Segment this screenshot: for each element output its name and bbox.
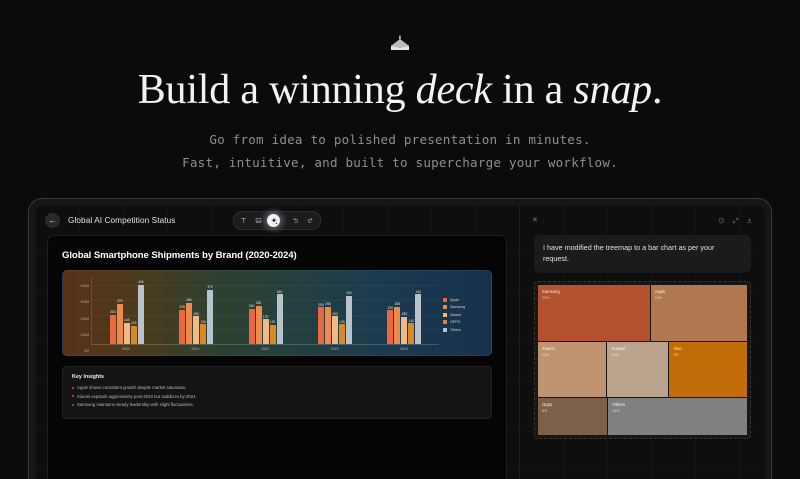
x-tick-label: 2022 <box>230 347 300 351</box>
treemap-tile-name: Apple <box>655 289 743 294</box>
key-insights-title: Key Insights <box>72 374 482 380</box>
legend-label: Samsung <box>450 305 465 309</box>
bar-group: 200275145125405 <box>92 278 161 344</box>
bullet-icon <box>72 404 74 406</box>
bar <box>186 303 192 344</box>
slide-canvas[interactable]: Global Smartphone Shipments by Brand (20… <box>47 235 507 479</box>
treemap-tile-name: Vivo <box>673 346 743 351</box>
chart-legend: AppleSamsungXiaomiOPPOOthers <box>439 278 483 351</box>
bar-item[interactable]: 330 <box>346 278 352 344</box>
back-arrow-icon[interactable]: ← <box>45 213 60 228</box>
bar-value-label: 280 <box>186 298 192 302</box>
treemap-row: Xiaomi13%Huawei11%Vivo9% <box>538 342 747 397</box>
bar-item[interactable]: 135 <box>200 278 206 344</box>
bar <box>193 316 199 344</box>
key-insights-card: Key Insights Apple shows consistent grow… <box>62 366 492 419</box>
legend-label: Xiaomi <box>450 313 461 317</box>
bar-value-label: 250 <box>318 303 324 307</box>
chart-y-axis: 400M300M200M100M0M <box>71 278 91 351</box>
bar-item[interactable]: 280 <box>186 278 192 344</box>
bar <box>138 285 144 344</box>
treemap-tile[interactable]: Oppo8% <box>538 398 607 435</box>
page-title: Build a winning deck in a snap. <box>0 68 800 112</box>
headline-text-3: . <box>652 67 662 113</box>
hero-section: Build a winning deck in a snap. Go from … <box>0 0 800 175</box>
magic-wand-icon[interactable] <box>267 214 280 227</box>
bar-groups: 2002751451254052352801901353702402601701… <box>92 278 439 344</box>
bar-value-label: 405 <box>138 280 144 284</box>
legend-item[interactable]: Others <box>443 328 483 332</box>
y-tick-label: 200M <box>81 317 89 321</box>
key-insight-text: Apple shows consistent growth despite ma… <box>77 385 187 390</box>
redo-icon[interactable] <box>304 214 317 227</box>
cake-slice-icon <box>387 34 413 54</box>
bar <box>179 310 185 344</box>
treemap-tile[interactable]: Huawei11% <box>607 342 668 397</box>
bar-item[interactable]: 190 <box>193 278 199 344</box>
treemap-tile[interactable]: Apple19% <box>651 285 747 341</box>
legend-item[interactable]: Apple <box>443 298 483 302</box>
headline-text-1: Build a winning <box>138 67 416 113</box>
expand-icon[interactable] <box>732 217 739 224</box>
download-icon[interactable] <box>746 217 753 224</box>
headline-text-2: in a <box>492 67 574 113</box>
chart-plot-area: 400M300M200M100M0M 200275145125405235280… <box>71 278 439 351</box>
bar-value-label: 255 <box>395 302 401 306</box>
undo-icon[interactable] <box>289 214 302 227</box>
bar <box>332 316 338 344</box>
bar-item[interactable]: 255 <box>394 278 400 344</box>
bar-value-label: 255 <box>325 302 331 306</box>
bar-item[interactable]: 145 <box>124 278 130 344</box>
bar-value-label: 260 <box>256 301 262 305</box>
bar <box>270 325 276 344</box>
chat-header: ✕ <box>520 205 765 235</box>
bar <box>263 319 269 344</box>
chat-message: I have modified the treemap to a bar cha… <box>534 235 751 273</box>
slide-title: Global Smartphone Shipments by Brand (20… <box>62 250 492 261</box>
bar-item[interactable]: 200 <box>110 278 116 344</box>
bar-item[interactable]: 135 <box>339 278 345 344</box>
treemap-tile-value: 8% <box>542 409 603 413</box>
bar-item[interactable]: 235 <box>179 278 185 344</box>
chart-x-axis: 20202021202220232024 <box>91 347 439 351</box>
x-tick-label: 2023 <box>300 347 370 351</box>
bar-value-label: 140 <box>409 319 415 323</box>
treemap-chart: Samsung22%Apple19%Xiaomi13%Huawei11%Vivo… <box>538 285 747 435</box>
key-insight-item: Xiaomi expands aggressively post-2020 bu… <box>72 394 482 399</box>
treemap-tile-value: 13% <box>542 353 602 357</box>
subtitle-line-2: Fast, intuitive, and built to supercharg… <box>0 151 800 174</box>
bar <box>339 324 345 344</box>
bar-item[interactable]: 170 <box>263 278 269 344</box>
treemap-tile-name: Samsung <box>542 289 646 294</box>
treemap-tile-value: 19% <box>655 296 743 300</box>
bullet-icon <box>72 387 74 389</box>
chart-bars-container: 2002751451254052352801901353702402601701… <box>91 278 439 345</box>
bar-item[interactable]: 275 <box>117 278 123 344</box>
y-tick-label: 400M <box>81 284 89 288</box>
landing-page: Build a winning deck in a snap. Go from … <box>0 0 800 479</box>
y-tick-label: 300M <box>81 300 89 304</box>
bar-item[interactable]: 250 <box>318 278 324 344</box>
bullet-icon <box>72 395 74 397</box>
bar-item[interactable]: 255 <box>325 278 331 344</box>
treemap-card[interactable]: Samsung22%Apple19%Xiaomi13%Huawei11%Vivo… <box>534 281 751 439</box>
bar-value-label: 200 <box>110 310 116 314</box>
treemap-tile[interactable]: Others18% <box>608 398 747 435</box>
bar <box>387 310 393 344</box>
legend-item[interactable]: Samsung <box>443 305 483 309</box>
bar-item[interactable]: 340 <box>277 278 283 344</box>
bar-item[interactable]: 230 <box>387 278 393 344</box>
treemap-tile[interactable]: Vivo9% <box>669 342 747 397</box>
bar-value-label: 240 <box>249 304 255 308</box>
legend-swatch <box>443 313 447 317</box>
subtitle-line-1: Go from idea to polished presentation in… <box>0 128 800 151</box>
key-insight-text: Samsung maintains steady leadership with… <box>77 402 194 407</box>
x-tick-label: 2021 <box>161 347 231 351</box>
x-tick-label: 2020 <box>91 347 161 351</box>
bar-value-label: 125 <box>131 321 137 325</box>
treemap-row: Oppo8%Others18% <box>538 398 747 435</box>
y-tick-label: 100M <box>81 333 89 337</box>
chat-header-actions <box>718 217 753 224</box>
bar-item[interactable]: 140 <box>408 278 414 344</box>
legend-swatch <box>443 298 447 302</box>
legend-label: Others <box>450 328 461 332</box>
bar-item[interactable]: 260 <box>256 278 262 344</box>
bar <box>256 306 262 344</box>
editor-titlebar: ← Global AI Competition Status <box>35 205 519 235</box>
bar-value-label: 190 <box>332 312 338 316</box>
bar <box>415 294 421 344</box>
bar <box>110 315 116 344</box>
bar-group: 235280190135370 <box>161 278 230 344</box>
image-tool-icon[interactable] <box>252 214 265 227</box>
bar-item[interactable]: 370 <box>207 278 213 344</box>
bar-value-label: 190 <box>193 312 199 316</box>
text-tool-icon[interactable] <box>237 214 250 227</box>
treemap-tile[interactable]: Samsung22% <box>538 285 650 341</box>
bar <box>124 323 130 344</box>
bar <box>346 296 352 344</box>
treemap-row: Samsung22%Apple19% <box>538 285 747 341</box>
bar-value-label: 170 <box>263 315 269 319</box>
treemap-tile-name: Xiaomi <box>542 346 602 351</box>
treemap-tile-value: 11% <box>611 353 664 357</box>
app-window-frame: ← Global AI Competition Status <box>28 198 772 479</box>
bar-item[interactable]: 340 <box>415 278 421 344</box>
treemap-tile-name: Huawei <box>611 346 664 351</box>
bar-value-label: 230 <box>388 306 394 310</box>
legend-swatch <box>443 305 447 309</box>
bar-value-label: 330 <box>346 291 352 295</box>
treemap-tile-name: Others <box>612 402 743 407</box>
key-insights-list: Apple shows consistent growth despite ma… <box>72 385 482 407</box>
chat-pane: ✕ I have modified the tree <box>519 205 765 479</box>
headline-emphasis-1: deck <box>416 67 492 113</box>
bar-group: 240260170130340 <box>231 278 300 344</box>
editor-pane: ← Global AI Competition Status <box>35 205 519 479</box>
bar <box>408 323 414 344</box>
bar-value-label: 130 <box>270 320 276 324</box>
bar-value-label: 145 <box>124 318 130 322</box>
chart-gridline <box>92 344 439 345</box>
bar-group: 230255185140340 <box>370 278 439 344</box>
legend-item[interactable]: Xiaomi <box>443 313 483 317</box>
treemap-tile-name: Oppo <box>542 402 603 407</box>
bar-value-label: 370 <box>207 285 213 289</box>
close-icon[interactable]: ✕ <box>532 216 538 224</box>
bar-chart[interactable]: 400M300M200M100M0M 200275145125405235280… <box>62 270 492 356</box>
hero-subtitle: Go from idea to polished presentation in… <box>0 128 800 175</box>
treemap-tile-value: 18% <box>612 409 743 413</box>
bar-item[interactable]: 190 <box>332 278 338 344</box>
bar-item[interactable]: 240 <box>249 278 255 344</box>
bar-value-label: 340 <box>277 290 283 294</box>
bar <box>200 324 206 344</box>
legend-item[interactable]: OPPO <box>443 320 483 324</box>
bar <box>401 317 407 344</box>
document-title: Global AI Competition Status <box>68 216 175 225</box>
bar-group: 250255190135330 <box>300 278 369 344</box>
legend-swatch <box>443 328 447 332</box>
treemap-tile-value: 9% <box>673 353 743 357</box>
x-tick-label: 2024 <box>369 347 439 351</box>
bar <box>318 307 324 344</box>
bar <box>249 309 255 344</box>
bar-item[interactable]: 125 <box>131 278 137 344</box>
history-icon[interactable] <box>718 217 725 224</box>
bar-value-label: 185 <box>402 312 408 316</box>
bar <box>131 326 137 344</box>
chat-body: I have modified the treemap to a bar cha… <box>520 235 765 439</box>
editor-toolbar <box>233 211 321 230</box>
app-window: ← Global AI Competition Status <box>35 205 765 479</box>
bar-item[interactable]: 130 <box>270 278 276 344</box>
bar-value-label: 135 <box>339 320 345 324</box>
treemap-tile-value: 22% <box>542 296 646 300</box>
legend-label: Apple <box>450 298 459 302</box>
legend-label: OPPO <box>450 320 460 324</box>
bar <box>277 294 283 344</box>
bar <box>117 304 123 344</box>
y-tick-label: 0M <box>84 349 89 353</box>
bar-value-label: 135 <box>200 320 206 324</box>
bar <box>325 307 331 344</box>
key-insight-item: Apple shows consistent growth despite ma… <box>72 385 482 390</box>
key-insight-text: Xiaomi expands aggressively post-2020 bu… <box>77 394 197 399</box>
bar-value-label: 275 <box>117 299 123 303</box>
bar-value-label: 235 <box>179 305 185 309</box>
key-insight-item: Samsung maintains steady leadership with… <box>72 402 482 407</box>
bar-item[interactable]: 185 <box>401 278 407 344</box>
bar-value-label: 340 <box>416 290 422 294</box>
bar <box>394 307 400 344</box>
bar <box>207 290 213 344</box>
headline-emphasis-2: snap <box>573 67 652 113</box>
treemap-tile[interactable]: Xiaomi13% <box>538 342 606 397</box>
bar-item[interactable]: 405 <box>138 278 144 344</box>
legend-swatch <box>443 320 447 324</box>
toolbar-divider <box>284 216 285 225</box>
